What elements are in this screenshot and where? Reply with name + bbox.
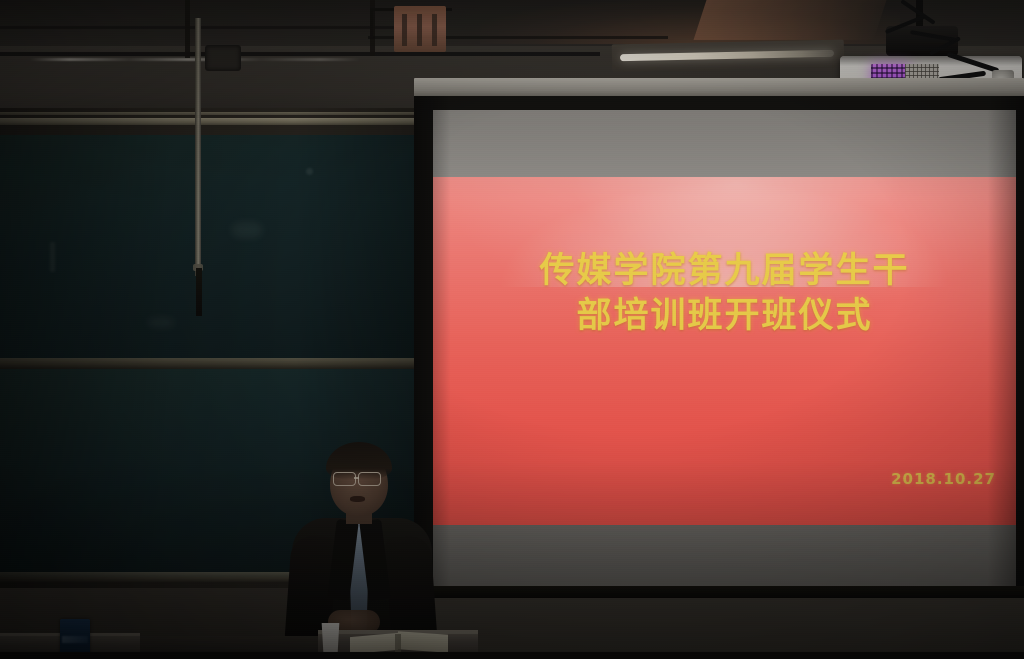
screen-bottom-bar xyxy=(414,586,1024,598)
slide-title-line-1: 传媒学院第九届学生干 xyxy=(485,249,964,294)
classroom-photo-scene: 传媒学院第九届学生干 部培训班开班仪式 2018.10.27 xyxy=(0,0,1024,659)
chalkboard-rail-top xyxy=(0,118,422,125)
chalkboard-mark-1 xyxy=(50,242,55,272)
book-spine xyxy=(395,634,401,653)
bracket-slot-1 xyxy=(402,14,407,46)
chalkboard-smudge-1 xyxy=(232,222,262,238)
ceiling-pipe-horizontal xyxy=(0,52,600,56)
speaker-glasses-right-lens xyxy=(358,472,381,486)
hanging-pole xyxy=(195,18,201,276)
slide-title: 传媒学院第九届学生干 部培训班开班仪式 xyxy=(433,249,1016,339)
chalkboard-divider xyxy=(0,358,422,369)
seated-speaker xyxy=(280,440,450,659)
ceiling-hook-drop xyxy=(370,8,373,38)
bracket-slot-3 xyxy=(432,14,437,46)
speaker-mouth xyxy=(350,496,365,502)
ceiling-vent-box xyxy=(205,45,241,71)
speaker-glasses-bridge xyxy=(354,477,359,479)
book-page-right xyxy=(398,631,448,652)
speaker-glasses-left-lens xyxy=(333,472,356,486)
blue-package-label xyxy=(62,636,88,643)
slide-date: 2018.10.27 xyxy=(891,470,996,488)
ceiling-pipe-secondary xyxy=(0,26,420,29)
ceiling-orange-bracket xyxy=(394,6,446,52)
floor-shadow xyxy=(0,652,1024,659)
chalkboard-smudge-2 xyxy=(148,318,174,327)
projected-slide: 传媒学院第九届学生干 部培训班开班仪式 2018.10.27 xyxy=(433,177,1016,525)
open-book xyxy=(350,630,448,654)
book-page-left xyxy=(350,633,398,654)
chalkboard-mark-2 xyxy=(306,168,313,175)
ceiling-pipe-vertical-left xyxy=(185,0,190,58)
slide-title-line-2: 部培训班开班仪式 xyxy=(485,294,964,339)
bracket-slot-2 xyxy=(417,14,422,46)
chalkboard-rail-top-thin xyxy=(0,112,422,115)
ceiling-beam-highlight xyxy=(694,0,887,40)
chalkboard-panel-upper xyxy=(0,135,422,359)
projector-cables xyxy=(880,6,970,60)
hanging-pole-lower-segment xyxy=(196,268,202,316)
paper-cup xyxy=(320,623,341,653)
